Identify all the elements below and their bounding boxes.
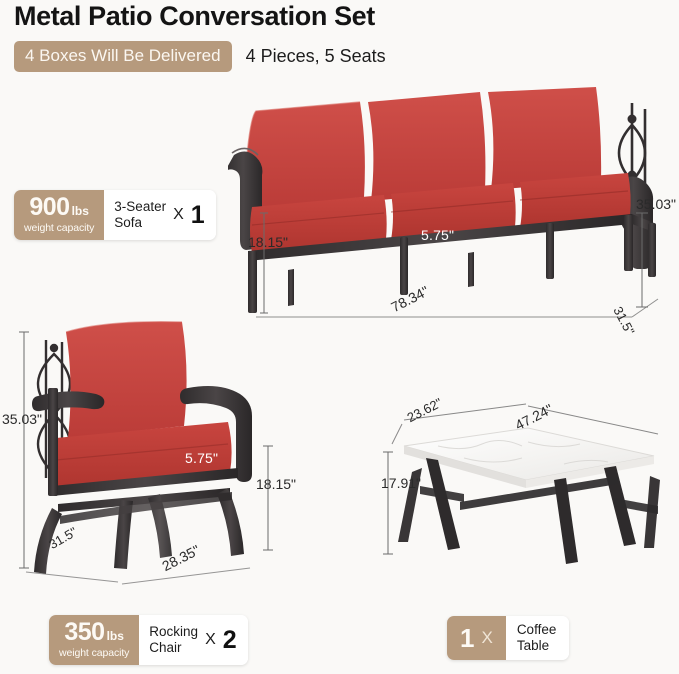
chair-overall-height-label: 35.03" (2, 411, 42, 427)
sofa-capacity-unit: lbs (72, 204, 89, 218)
chair-capacity-unit: lbs (107, 629, 124, 643)
chair-item-name: Rocking Chair (149, 624, 198, 656)
chair-item-line2: Chair (149, 640, 181, 655)
page-title: Metal Patio Conversation Set (14, 1, 375, 32)
rocking-chair-illustration (0, 318, 300, 588)
sofa-overall-height-label: 35.03" (636, 196, 676, 212)
table-item-info: Coffee Table (506, 616, 570, 660)
chair-item-line1: Rocking (149, 624, 198, 639)
sofa-quantity: 1 (191, 203, 205, 228)
chair-capacity-badge: 350 lbs weight capacity Rocking Chair X … (49, 615, 248, 665)
chair-back-cushion (66, 322, 187, 438)
table-quantity-block: 1 X (447, 616, 506, 660)
chair-cushion-thickness-label: 5.75" (185, 450, 218, 466)
header-subrow: 4 Boxes Will Be Delivered 4 Pieces, 5 Se… (14, 41, 386, 72)
table-item-name: Coffee Table (517, 622, 557, 654)
coffee-table-badge: 1 X Coffee Table (447, 616, 569, 660)
sofa-item-name: 3-Seater Sofa (114, 199, 166, 231)
table-quantity: 1 (460, 625, 474, 651)
chair-item-info: Rocking Chair X 2 (139, 615, 247, 665)
pieces-seats-text: 4 Pieces, 5 Seats (246, 46, 386, 67)
sofa-cushion-thickness-label: 5.75" (421, 227, 454, 243)
chair-capacity-number: 350 (64, 620, 104, 645)
product-infographic: Metal Patio Conversation Set 4 Boxes Wil… (0, 0, 679, 674)
chair-left-arm (32, 391, 104, 411)
chair-seat-height-label: 18.15" (256, 476, 296, 492)
sofa-capacity-badge: 900 lbs weight capacity 3-Seater Sofa X … (14, 190, 216, 240)
sofa-multiplier: X (173, 206, 184, 224)
sofa-item-line2: Sofa (114, 215, 142, 230)
sofa-capacity-number: 900 (29, 195, 69, 220)
boxes-delivered-badge: 4 Boxes Will Be Delivered (14, 41, 232, 72)
chair-capacity-caption: weight capacity (59, 647, 129, 659)
sofa-seat-height-label: 18.15" (248, 234, 288, 250)
sofa-item-line1: 3-Seater (114, 199, 166, 214)
sofa-illustration (228, 85, 679, 330)
sofa-item-info: 3-Seater Sofa X 1 (104, 190, 215, 240)
chair-multiplier: X (205, 631, 216, 649)
table-height-label: 17.91" (381, 475, 421, 491)
table-multiplier: X (481, 628, 492, 648)
sofa-weight-capacity: 900 lbs weight capacity (14, 190, 104, 240)
table-item-line1: Coffee (517, 622, 557, 637)
chair-weight-capacity: 350 lbs weight capacity (49, 615, 139, 665)
sofa-capacity-caption: weight capacity (24, 222, 94, 234)
chair-quantity: 2 (223, 628, 237, 653)
table-item-line2: Table (517, 638, 549, 653)
